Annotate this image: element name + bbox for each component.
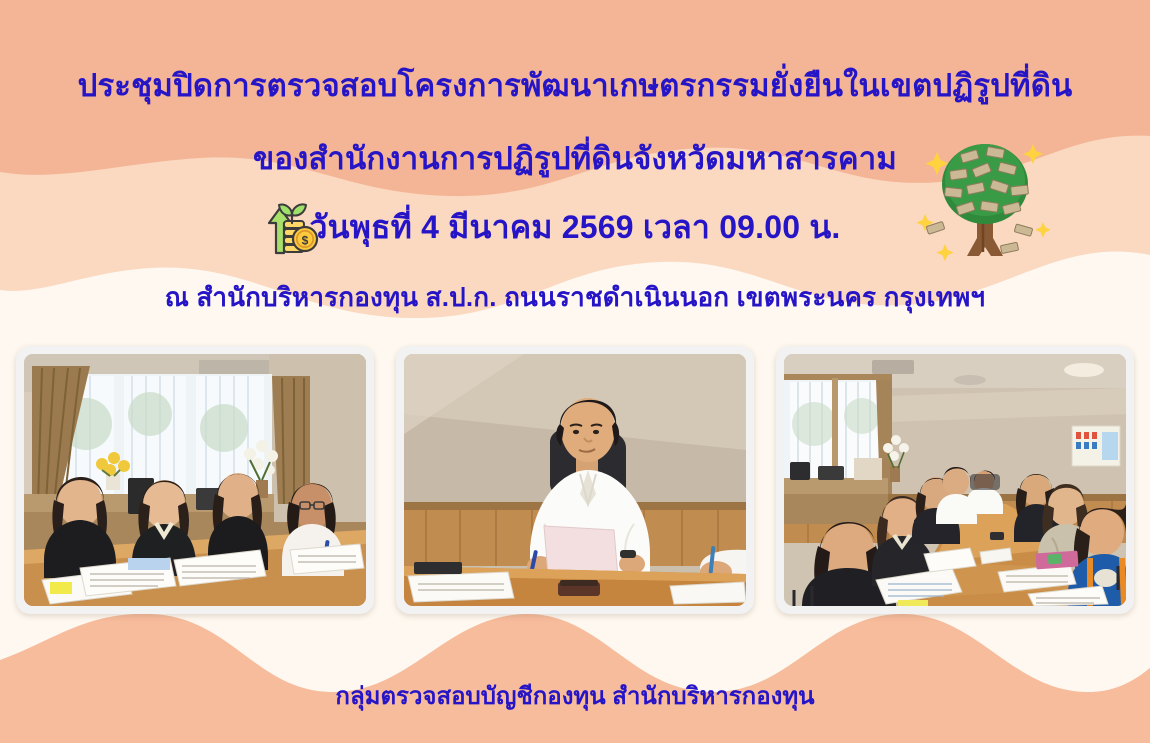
meeting-photo-chairman [404, 354, 746, 606]
photo-card [776, 346, 1134, 614]
headline-line-3: วันพุธที่ 4 มีนาคม 2569 เวลา 09.00 น. [0, 202, 1150, 253]
svg-text:$: $ [302, 234, 309, 248]
poster-canvas: $ ประชุมปิดการตรวจสอบโครงการพัฒนาเกษตรกร… [0, 0, 1150, 743]
meeting-photo-wide-room [784, 354, 1126, 606]
headline-line-1: ประชุมปิดการตรวจสอบโครงการพัฒนาเกษตรกรรม… [0, 60, 1150, 110]
headline-line-2: ของสำนักงานการปฏิรูปที่ดินจังหวัดมหาสารค… [0, 133, 1150, 183]
meeting-photo-four-women [24, 354, 366, 606]
photo-card [16, 346, 374, 614]
footer-caption: กลุ่มตรวจสอบบัญชีกองทุน สำนักบริหารกองทุ… [0, 676, 1150, 715]
photo-gallery [0, 346, 1150, 616]
headline-line-4: ณ สำนักบริหารกองทุน ส.ป.ก. ถนนราชดำเนินน… [0, 277, 1150, 318]
coin-stack-plant-growth-icon: $ [262, 199, 322, 257]
headline-block: ประชุมปิดการตรวจสอบโครงการพัฒนาเกษตรกรรม… [0, 0, 1150, 345]
photo-card [396, 346, 754, 614]
